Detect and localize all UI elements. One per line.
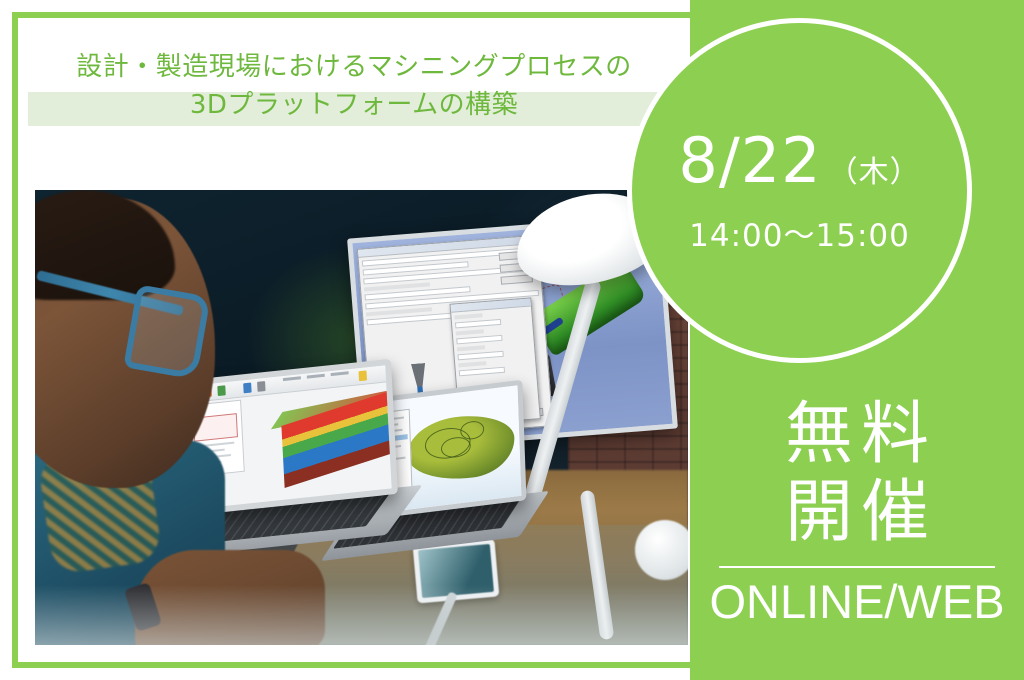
hero-photo	[35, 190, 688, 645]
date-circle-badge: 8/22 （木） 14:00〜15:00	[627, 18, 972, 363]
dialog-label	[457, 345, 485, 351]
ribbon-icon	[217, 385, 225, 396]
dialog-label	[454, 313, 482, 319]
free-admission-block: 無料 開催 ONLINE/WEB	[690, 396, 1024, 680]
coffee-cup	[635, 520, 688, 580]
event-format-label: ONLINE/WEB	[709, 574, 1004, 630]
ribbon-tab	[307, 374, 325, 379]
dialog-field	[456, 335, 503, 345]
title-line-2: 3Dプラットフォームの構築	[18, 86, 690, 124]
event-date-value: 8/22	[678, 129, 821, 193]
event-day-of-week: （木）	[828, 141, 921, 205]
dialog-label	[458, 361, 486, 367]
dialog-field	[455, 319, 502, 329]
green-panel-top-edge	[690, 0, 1024, 8]
free-label-line-1: 無料	[777, 396, 937, 474]
ribbon-icon	[257, 381, 265, 392]
dialog-fields	[451, 306, 536, 382]
dialog-field	[459, 367, 506, 377]
ribbon-tab	[283, 376, 301, 381]
section-divider	[719, 566, 995, 568]
title-block: 設計・製造現場におけるマシニングプロセスの 3Dプラットフォームの構築	[18, 48, 690, 148]
dialog-label	[456, 329, 484, 335]
title-line-1: 設計・製造現場におけるマシニングプロセスの	[18, 48, 690, 86]
ribbon-icon	[243, 383, 251, 394]
webinar-poster: 設計・製造現場におけるマシニングプロセスの 3Dプラットフォームの構築	[0, 0, 1024, 680]
ribbon-icon	[359, 370, 367, 381]
event-date: 8/22 （木）	[678, 129, 920, 205]
photo-bottom-fade	[35, 585, 688, 645]
free-label-line-2: 開催	[777, 474, 937, 552]
ribbon-tab	[331, 371, 349, 376]
dialog-field	[457, 351, 504, 361]
event-time: 14:00〜15:00	[689, 219, 910, 253]
